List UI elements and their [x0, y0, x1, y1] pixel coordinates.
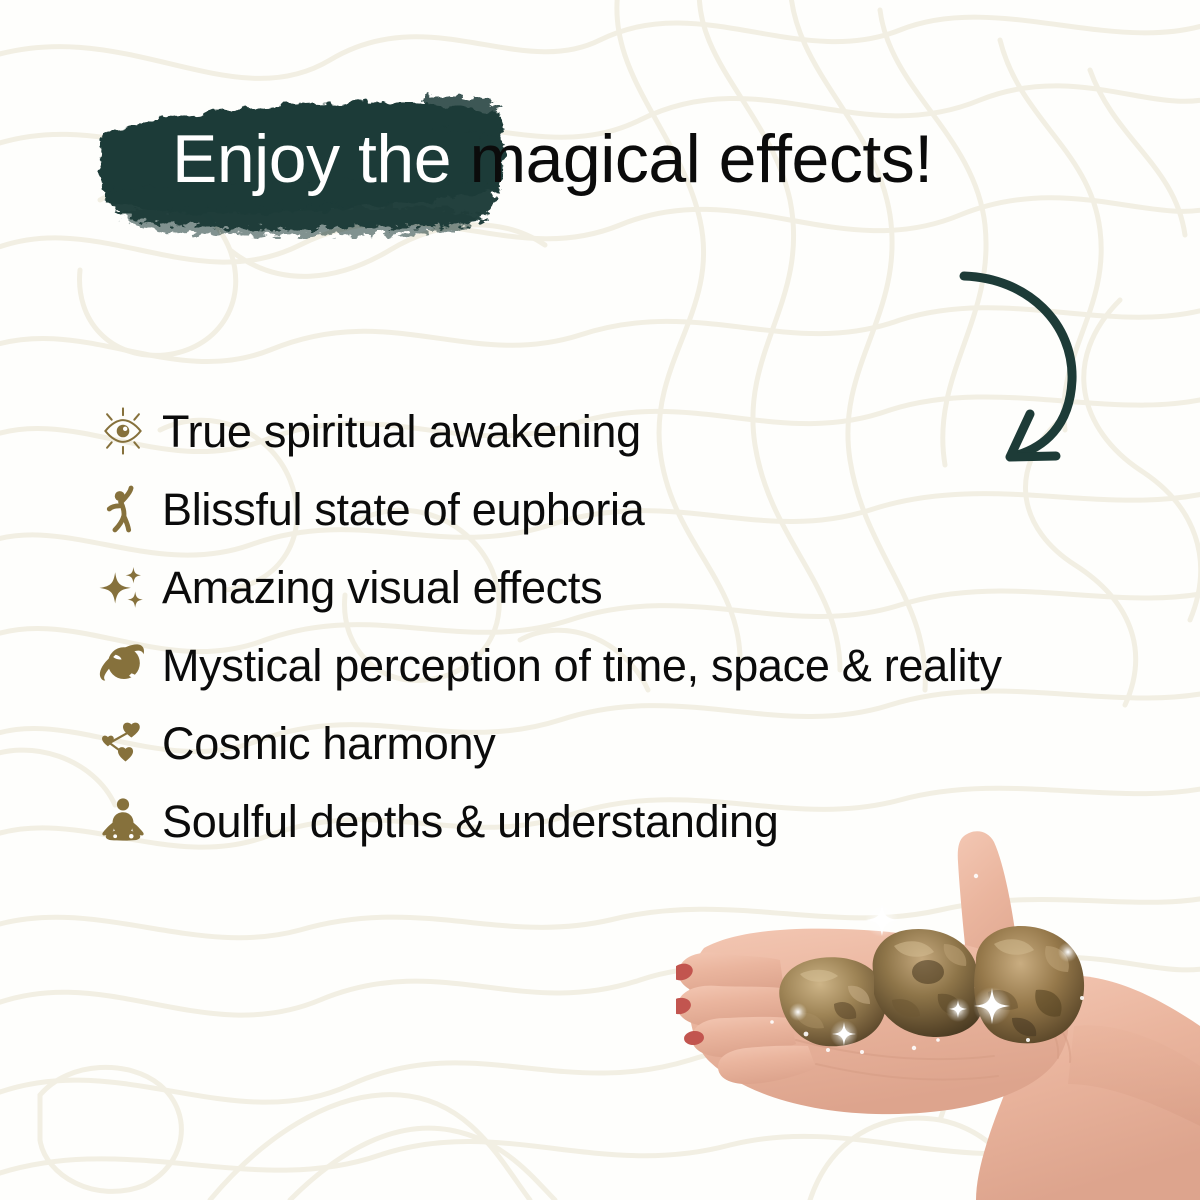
third-eye-icon — [92, 400, 154, 462]
list-item: Blissful state of euphoria — [92, 470, 1162, 548]
sparkles-icon — [92, 556, 154, 618]
list-item: Cosmic harmony — [92, 704, 1162, 782]
shared-hearts-icon — [92, 712, 154, 774]
headline-highlighted-text: Enjoy the — [172, 121, 451, 197]
headline-block: Enjoy the magical effects! — [96, 103, 1156, 215]
meditating-person-icon — [92, 790, 154, 852]
headline-plain-text — [451, 121, 469, 197]
list-item-label: Blissful state of euphoria — [154, 487, 644, 532]
poster-canvas: Enjoy the magical effects! — [0, 0, 1200, 1200]
list-item: Mystical perception of time, space & rea… — [92, 626, 1162, 704]
benefits-list: True spiritual awakening — [92, 392, 1162, 860]
list-item-label: Amazing visual effects — [154, 565, 602, 610]
hand-holding-truffles-photo — [676, 826, 1200, 1200]
list-item: True spiritual awakening — [92, 392, 1162, 470]
list-item-label: True spiritual awakening — [154, 409, 641, 454]
list-item-label: Mystical perception of time, space & rea… — [154, 643, 1002, 688]
headline-plain-text-2: magical effects! — [469, 121, 932, 197]
dancing-person-icon — [92, 478, 154, 540]
list-item-label: Cosmic harmony — [154, 721, 495, 766]
list-item: Amazing visual effects — [92, 548, 1162, 626]
saturn-planet-icon — [92, 634, 154, 696]
page-title: Enjoy the magical effects! — [172, 103, 933, 215]
